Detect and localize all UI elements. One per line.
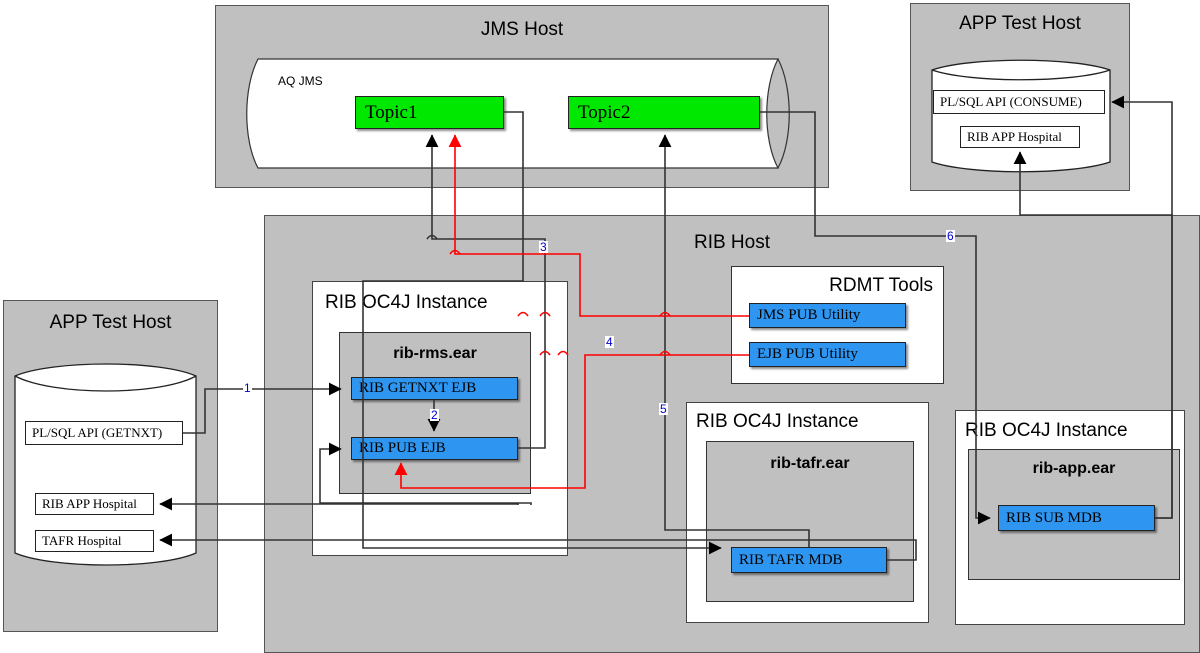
host-rib-title: RIB Host bbox=[265, 232, 1199, 254]
flow-number-2: 2 bbox=[430, 409, 439, 421]
rdmt-tools-title: RDMT Tools bbox=[829, 275, 933, 297]
ejb-pub-utility[interactable]: EJB PUB Utility bbox=[749, 342, 906, 367]
jms-pub-utility[interactable]: JMS PUB Utility bbox=[749, 303, 906, 328]
plsql-api-getnxt[interactable]: PL/SQL API (GETNXT) bbox=[25, 421, 183, 445]
flow-number-4: 4 bbox=[605, 336, 614, 348]
ear-rib-tafr-title: rib-tafr.ear bbox=[707, 455, 913, 473]
app-db-cylinder-right bbox=[930, 58, 1112, 175]
flow-number-1: 1 bbox=[243, 382, 252, 394]
host-app-test-right-title: APP Test Host bbox=[911, 13, 1129, 35]
architecture-diagram: JMS Host APP Test Host APP Test Host RIB… bbox=[0, 0, 1200, 653]
topic-2[interactable]: Topic2 bbox=[568, 96, 760, 129]
ear-rib-app-title: rib-app.ear bbox=[969, 460, 1179, 478]
oc4j-instance-rms-title: RIB OC4J Instance bbox=[325, 292, 488, 314]
tafr-hospital[interactable]: TAFR Hospital bbox=[35, 530, 154, 552]
topic-1[interactable]: Topic1 bbox=[355, 96, 504, 129]
flow-number-3: 3 bbox=[539, 241, 548, 253]
ear-rib-rms-title: rib-rms.ear bbox=[340, 345, 530, 363]
plsql-api-consume[interactable]: PL/SQL API (CONSUME) bbox=[933, 90, 1105, 114]
rib-pub-ejb[interactable]: RIB PUB EJB bbox=[351, 437, 518, 460]
rib-sub-mdb[interactable]: RIB SUB MDB bbox=[998, 505, 1155, 531]
rib-app-hospital-left[interactable]: RIB APP Hospital bbox=[35, 493, 154, 515]
host-app-test-left-title: APP Test Host bbox=[4, 312, 217, 334]
oc4j-instance-tafr-title: RIB OC4J Instance bbox=[696, 411, 859, 433]
rib-tafr-mdb[interactable]: RIB TAFR MDB bbox=[731, 547, 887, 573]
rib-getnxt-ejb[interactable]: RIB GETNXT EJB bbox=[351, 377, 518, 400]
rib-app-hospital-right[interactable]: RIB APP Hospital bbox=[960, 126, 1080, 148]
host-jms-title: JMS Host bbox=[216, 19, 828, 41]
oc4j-instance-app-title: RIB OC4J Instance bbox=[965, 420, 1128, 442]
ear-rib-tafr: rib-tafr.ear bbox=[706, 441, 914, 602]
aq-jms-label: AQ JMS bbox=[278, 74, 323, 88]
flow-number-5: 5 bbox=[659, 403, 668, 415]
flow-number-6: 6 bbox=[946, 230, 955, 242]
